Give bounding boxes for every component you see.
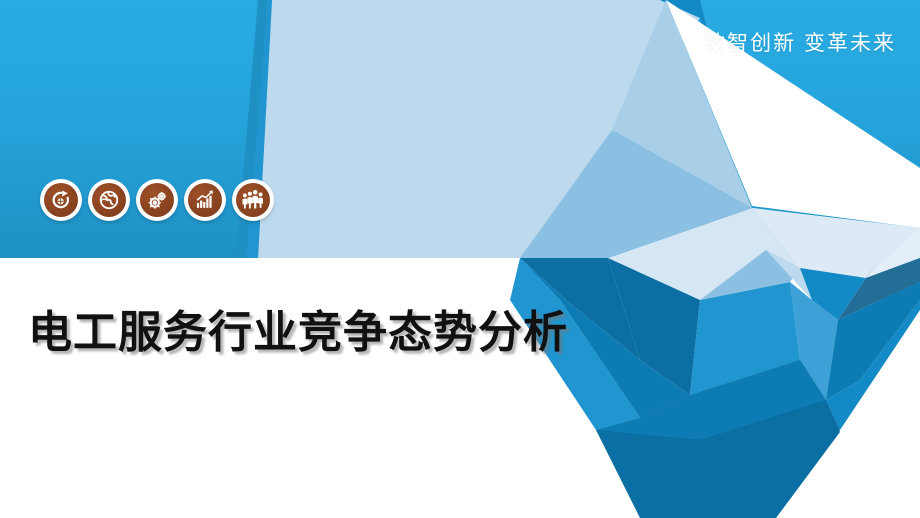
people-group-icon: [241, 188, 265, 212]
icon-badge-globe[interactable]: [88, 179, 130, 221]
icon-badge-refresh-globe[interactable]: [40, 179, 82, 221]
icon-inner-circle: [92, 183, 126, 217]
icon-badge-gears[interactable]: [136, 179, 178, 221]
refresh-globe-icon: [50, 189, 72, 211]
icon-inner-circle: [236, 183, 270, 217]
icon-badge-bar-chart-growth[interactable]: [184, 179, 226, 221]
page-title: 电工服务行业竞争态势分析: [28, 296, 568, 360]
slide-tagline: 数智创新 变革未来: [704, 27, 896, 57]
globe-icon: [98, 189, 120, 211]
bar-chart-growth-icon: [194, 189, 216, 211]
icon-badge-people-group[interactable]: [232, 179, 274, 221]
icon-inner-circle: [140, 183, 174, 217]
low-poly-artwork: [0, 0, 920, 518]
presentation-slide: 数智创新 变革未来: [0, 0, 920, 518]
gears-icon: [146, 189, 169, 212]
icon-inner-circle: [188, 183, 222, 217]
icon-inner-circle: [44, 183, 78, 217]
icon-badge-row: [40, 179, 274, 221]
